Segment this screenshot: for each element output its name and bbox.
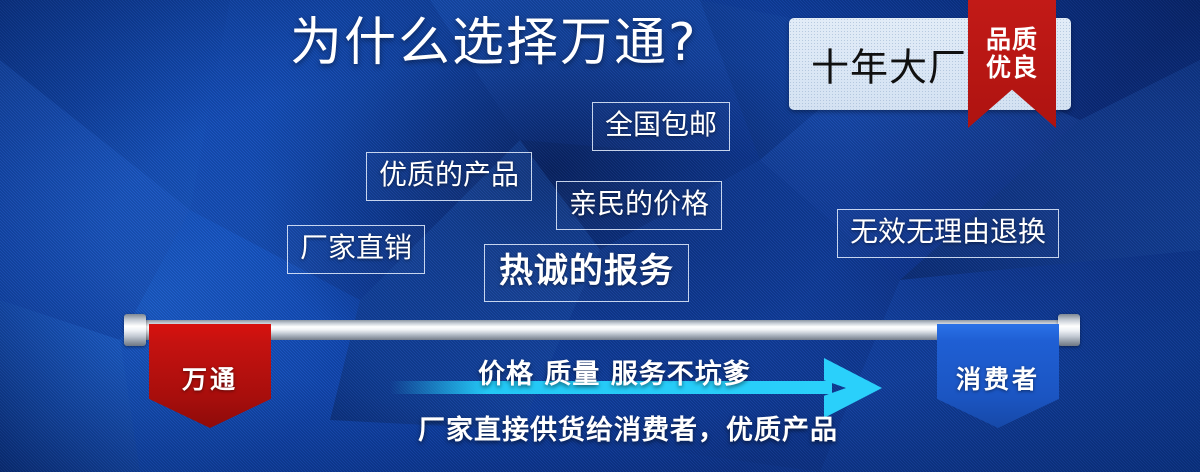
feature-tag-free-return: 无效无理由退换 xyxy=(837,209,1059,258)
factory-badge: 十年大厂 品质 优良 xyxy=(789,18,1071,110)
quality-ribbon-text: 品质 优良 xyxy=(968,26,1056,81)
promo-banner: 为什么选择万通? 十年大厂 品质 优良 全国包邮 优质的产品 亲民的价格 厂家直… xyxy=(0,0,1200,472)
feature-tag-factory-direct: 厂家直销 xyxy=(287,225,425,274)
manufacturer-flag-label: 万通 xyxy=(149,360,271,396)
feature-tag-nationwide-shipping: 全国包邮 xyxy=(592,102,730,151)
supply-chain-caption-secondary: 厂家直接供货给消费者，优质产品 xyxy=(418,408,838,447)
rod-cap-right xyxy=(1058,314,1080,346)
supply-chain-caption-primary: 价格 质量 服务不坑爹 xyxy=(478,352,751,391)
supply-chain-rod xyxy=(138,320,1064,340)
quality-ribbon-line1: 品质 xyxy=(968,26,1056,54)
consumer-flag-label: 消费者 xyxy=(937,360,1059,396)
page-title: 为什么选择万通? xyxy=(290,12,698,74)
rod-cap-left xyxy=(124,314,146,346)
feature-tag-quality-product: 优质的产品 xyxy=(366,152,532,201)
feature-tag-friendly-price: 亲民的价格 xyxy=(556,181,722,230)
quality-ribbon: 品质 优良 xyxy=(968,0,1056,128)
quality-ribbon-line2: 优良 xyxy=(968,54,1056,82)
feature-tag-sincere-service: 热诚的报务 xyxy=(484,244,689,302)
badge-label: 十年大厂 xyxy=(811,37,967,92)
